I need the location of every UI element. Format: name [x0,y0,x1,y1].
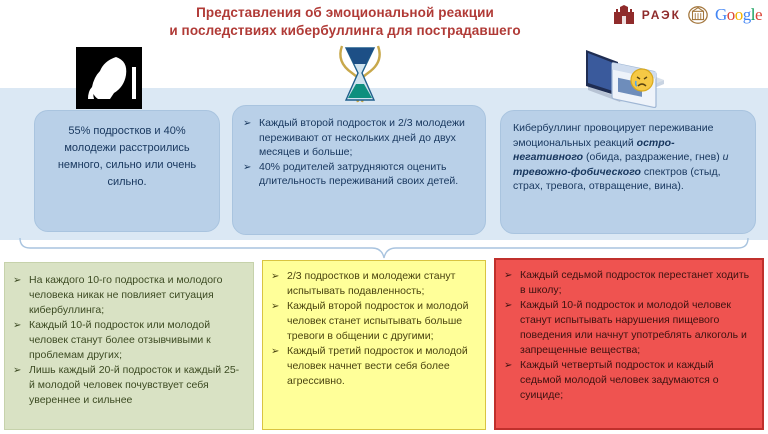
list-item-text: На каждого 10-го подростка и молодого че… [29,274,223,316]
google-letter-e: e [755,5,762,24]
yellow-box-list: ➢2/3 подростков и молодежи станут испыты… [269,269,477,389]
list-item: ➢Каждый седьмой подросток перестанет ход… [502,268,754,298]
bullet-arrow-icon: ➢ [504,358,512,373]
list-item: ➢2/3 подростков и молодежи станут испыты… [269,269,477,299]
outcome-box-moderate-impact: ➢2/3 подростков и молодежи станут испыты… [262,260,486,430]
top-box-2-list: ➢Каждый второй подросток и 2/3 молодежи … [241,116,475,189]
outcome-box-severe-impact: ➢Каждый седьмой подросток перестанет ход… [494,258,764,430]
top-box-duration-bullets: ➢Каждый второй подросток и 2/3 молодежи … [232,105,486,235]
bullet-arrow-icon: ➢ [271,299,279,314]
google-letter-g1: G [715,5,727,24]
top-box-3-text: Кибербуллинг провоцирует переживание эмо… [513,121,743,194]
red-box-list: ➢Каждый седьмой подросток перестанет ход… [502,268,754,403]
list-item: ➢На каждого 10-го подростка и молодого ч… [11,273,245,318]
list-item: ➢Каждый второй подросток и молодой челов… [269,299,477,344]
segment-plain-1: Кибербуллинг провоцирует переживание эмо… [513,122,713,149]
institute-seal-icon [687,4,709,26]
top-box-emotional-reactions: Кибербуллинг провоцирует переживание эмо… [500,110,756,234]
bullet-arrow-icon: ➢ [271,344,279,359]
list-item: ➢Лишь каждый 20-й подросток и каждый 25-… [11,363,245,408]
list-item-text: 40% родителей затрудняются оценить длите… [259,161,458,188]
page-title-line-2: и последствиях кибербуллинга для пострад… [120,22,570,40]
bullet-arrow-icon: ➢ [243,160,251,175]
list-item-text: Каждый второй подросток и 2/3 молодежи п… [259,117,465,158]
raec-wordmark: РАЭК [642,8,681,22]
list-item-text: 2/3 подростков и молодежи станут испытыв… [287,270,455,297]
distressed-person-photo [76,47,142,109]
list-item: ➢Каждый 10-й подросток и молодой человек… [502,298,754,358]
bullet-arrow-icon: ➢ [243,116,251,131]
list-item: ➢Каждый второй подросток и 2/3 молодежи … [241,116,475,160]
list-item: ➢40% родителей затрудняются оценить длит… [241,160,475,189]
page-title: Представления об эмоциональной реакции и… [120,4,570,40]
list-item-text: Каждый 10-й подросток или молодой челове… [29,319,211,361]
hourglass-icon [332,40,388,108]
bullet-arrow-icon: ➢ [13,363,21,378]
list-item: ➢Каждый четвертый подросток и каждый сед… [502,358,754,403]
google-letter-g2: g [743,5,751,24]
list-item: ➢Каждый третий подросток и молодой челов… [269,344,477,389]
list-item-text: Каждый второй подросток и молодой челове… [287,300,468,342]
bullet-arrow-icon: ➢ [504,268,512,283]
list-item-text: Каждый 10-й подросток и молодой человек … [520,299,747,356]
segment-plain-2: (обида, раздражение, гнев) [583,151,723,163]
list-item-text: Каждый седьмой подросток перестанет ходи… [520,269,749,296]
bullet-arrow-icon: ➢ [13,273,21,288]
segment-italic-and: и [723,151,729,163]
outcome-box-low-impact: ➢На каждого 10-го подростка и молодого ч… [4,262,254,430]
top-box-statistic-upset: 55% подростков и 40% молодежи расстроили… [34,110,220,232]
google-letter-o1: o [727,5,735,24]
google-wordmark: Google [715,5,762,25]
green-box-list: ➢На каждого 10-го подростка и молодого ч… [11,273,245,408]
segment-emphasis-anxious-phobic: тревожно-фобического [513,166,641,178]
google-letter-o2: o [735,5,743,24]
bullet-arrow-icon: ➢ [271,269,279,284]
logo-strip: РАЭК Google [612,2,762,28]
list-item: ➢ Каждый 10-й подросток или молодой чело… [11,318,245,363]
list-item-text: Каждый четвертый подросток и каждый седь… [520,359,719,401]
list-item-text: Лишь каждый 20-й подросток и каждый 25-й… [29,364,239,406]
raec-castle-icon [612,3,636,27]
top-box-1-text: 55% подростков и 40% молодежи расстроили… [45,123,209,191]
laptop-sad-emoji-icon [572,36,672,108]
page-title-line-1: Представления об эмоциональной реакции [120,4,570,22]
bullet-arrow-icon: ➢ [13,318,21,333]
list-item-text: Каждый третий подросток и молодой челове… [287,345,468,387]
bullet-arrow-icon: ➢ [504,298,512,313]
